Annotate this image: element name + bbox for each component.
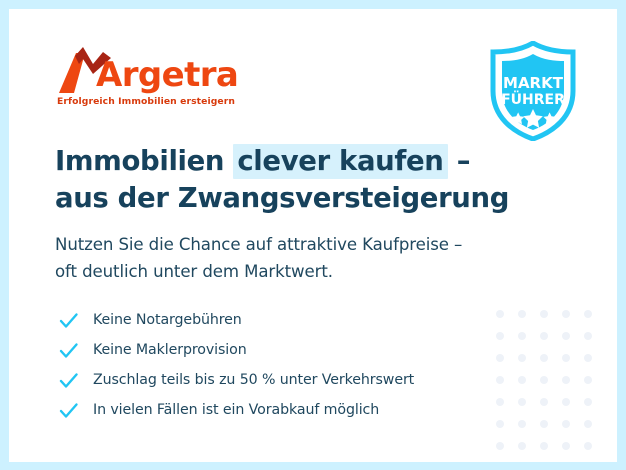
brand-logo[interactable]: Argetra Erfolgreich Immobilien ersteiger… (55, 47, 238, 107)
check-icon (58, 340, 79, 361)
dot (518, 376, 526, 384)
dot-cell (489, 325, 511, 347)
dot (584, 376, 592, 384)
dot-cell (489, 457, 511, 462)
dot (584, 420, 592, 428)
benefit-label: Keine Maklerprovision (93, 342, 247, 358)
dot-cell (555, 325, 577, 347)
list-item: In vielen Fällen ist ein Vorabkauf mögli… (58, 395, 414, 425)
dot (562, 332, 570, 340)
logo-wordmark: Argetra (96, 58, 238, 92)
badge-line2: FÜHRER (501, 90, 565, 108)
dot-cell (577, 347, 599, 369)
dot (540, 398, 548, 406)
dot (562, 310, 570, 318)
dot-cell (489, 303, 511, 325)
dot (540, 420, 548, 428)
benefit-label: In vielen Fällen ist ein Vorabkauf mögli… (93, 402, 379, 418)
dot-cell (533, 413, 555, 435)
dot (584, 332, 592, 340)
dot-cell (555, 413, 577, 435)
dot-cell (489, 369, 511, 391)
dot (562, 354, 570, 362)
dot-cell (489, 413, 511, 435)
dot-cell (577, 391, 599, 413)
logo-tagline: Erfolgreich Immobilien ersteigern (57, 96, 238, 107)
headline-line-1: Immobilien clever kaufen – (55, 143, 509, 180)
subheadline: Nutzen Sie die Chance auf attraktive Kau… (55, 231, 462, 285)
benefit-label: Keine Notargebühren (93, 312, 242, 328)
page-title: Immobilien clever kaufen – aus der Zwang… (55, 143, 509, 217)
dot-cell (489, 435, 511, 457)
ad-card: Argetra Erfolgreich Immobilien ersteiger… (9, 9, 617, 462)
dot-cell (511, 369, 533, 391)
dot-cell (533, 391, 555, 413)
dot (562, 420, 570, 428)
dot (518, 354, 526, 362)
dot-cell (555, 303, 577, 325)
dot (584, 310, 592, 318)
dot (518, 398, 526, 406)
dot (496, 376, 504, 384)
subheadline-line-1: Nutzen Sie die Chance auf attraktive Kau… (55, 231, 462, 258)
dot (518, 442, 526, 450)
headline-highlight: clever kaufen (233, 144, 447, 179)
badge-line1: MARKT (503, 74, 564, 92)
check-icon (58, 310, 79, 331)
benefit-list: Keine Notargebühren Keine Maklerprovisio… (58, 305, 414, 425)
dot-cell (511, 303, 533, 325)
dot-cell (533, 325, 555, 347)
dot (562, 442, 570, 450)
dot-cell (577, 303, 599, 325)
benefit-label: Zuschlag teils bis zu 50 % unter Verkehr… (93, 372, 414, 388)
dot-cell (511, 347, 533, 369)
dot-cell (511, 391, 533, 413)
dot (540, 376, 548, 384)
dot (584, 442, 592, 450)
check-icon (58, 370, 79, 391)
headline-line-2: aus der Zwangsversteigerung (55, 180, 509, 217)
dot (518, 420, 526, 428)
dot (518, 332, 526, 340)
check-icon (58, 400, 79, 421)
market-leader-badge: MARKT FÜHRER (485, 41, 581, 141)
dot (540, 332, 548, 340)
dot-cell (533, 347, 555, 369)
dot-cell (577, 369, 599, 391)
dot (496, 354, 504, 362)
dot-cell (577, 435, 599, 457)
dot (540, 310, 548, 318)
dot-cell (489, 347, 511, 369)
dot (540, 354, 548, 362)
dot-cell (533, 457, 555, 462)
headline-line-1-before: Immobilien (55, 145, 233, 177)
headline-line-1-after: – (448, 145, 471, 177)
dot-cell (577, 325, 599, 347)
dot-cell (533, 303, 555, 325)
dot-cell (577, 457, 599, 462)
ad-banner: Argetra Erfolgreich Immobilien ersteiger… (0, 0, 626, 470)
dot-cell (489, 391, 511, 413)
dot-cell (555, 435, 577, 457)
list-item: Keine Notargebühren (58, 305, 414, 335)
dot-cell (511, 413, 533, 435)
dot-cell (577, 413, 599, 435)
dot (584, 398, 592, 406)
dot-cell (555, 347, 577, 369)
dot-cell (511, 435, 533, 457)
dot-cell (555, 369, 577, 391)
dot-cell (533, 435, 555, 457)
dot-cell (511, 457, 533, 462)
subheadline-line-2: oft deutlich unter dem Marktwert. (55, 258, 462, 285)
dot (496, 398, 504, 406)
dot (496, 310, 504, 318)
list-item: Keine Maklerprovision (58, 335, 414, 365)
dot (496, 420, 504, 428)
dot (584, 354, 592, 362)
decorative-dot-grid (489, 303, 599, 462)
dot (540, 442, 548, 450)
list-item: Zuschlag teils bis zu 50 % unter Verkehr… (58, 365, 414, 395)
dot (562, 376, 570, 384)
dot-cell (533, 369, 555, 391)
dot-cell (511, 325, 533, 347)
dot (562, 398, 570, 406)
dot (496, 332, 504, 340)
dot (496, 442, 504, 450)
dot-cell (555, 391, 577, 413)
dot (518, 310, 526, 318)
dot-cell (555, 457, 577, 462)
